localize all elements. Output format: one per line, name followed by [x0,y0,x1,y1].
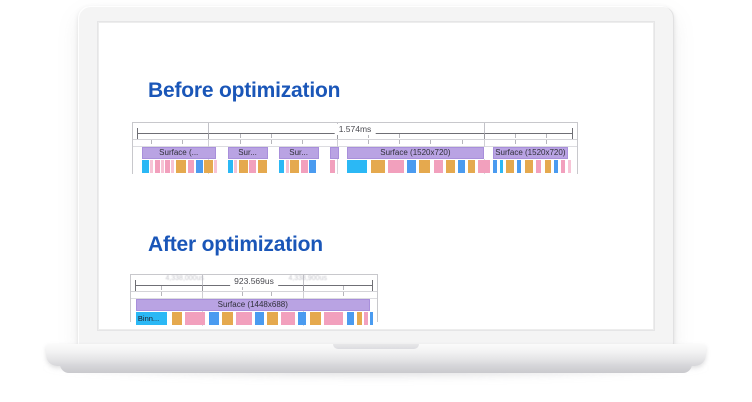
trace-slice[interactable] [517,160,521,173]
trace-slice[interactable] [286,160,289,173]
trace-before-track: Surface (...Sur...Sur...Surface (1520x72… [133,147,577,174]
trace-slice[interactable] [196,160,203,173]
trace-slice[interactable] [545,160,552,173]
trace-slice[interactable] [493,160,497,173]
trace-slice[interactable] [309,160,316,173]
ruler-tick [484,133,485,139]
after-optimization-title: After optimization [148,232,323,258]
ruler-tick [515,134,516,138]
trace-after-track: Surface (1448x688) Binn... [131,299,377,326]
trace-slice[interactable] [161,160,164,173]
surface-block[interactable]: Surface (1520x720) [347,147,484,159]
trace-slice[interactable] [347,160,367,173]
ruler-tick [271,134,272,138]
trace-slice[interactable] [536,160,542,173]
trace-slice[interactable] [239,160,248,173]
ruler-tick [399,134,400,138]
trace-slice[interactable] [419,160,431,173]
trace-slice[interactable] [228,160,233,173]
ruler-cap-right [372,280,373,291]
ruler-tick [546,134,547,138]
trace-slice[interactable] [506,160,514,173]
trace-slice[interactable] [214,160,217,173]
ruler-cap-left [135,280,136,291]
trace-slice[interactable] [407,160,416,173]
trace-slice[interactable] [267,312,278,325]
trace-slice[interactable] [176,160,187,173]
surface-block[interactable]: Surface (... [142,147,216,159]
trace-before[interactable]: 1.574ms Surface (...Sur...Sur...Surface … [132,122,578,174]
ruler-cap-right [572,128,573,139]
ruler-tick [240,134,241,138]
trace-slice[interactable] [188,160,195,173]
trace-slice[interactable] [357,312,361,325]
laptop-base [46,344,706,366]
trace-after-faint-timestamp-left: 4,338,000us [165,274,204,283]
trace-slice[interactable] [324,312,343,325]
trace-slice[interactable] [155,160,160,173]
trace-slice[interactable] [236,312,252,325]
screenshot-root: Before optimization 1.574ms [0,0,752,402]
surface-block[interactable]: Sur... [279,147,319,159]
trace-slice[interactable] [279,160,285,173]
surface-block[interactable]: Surface (1520x720) [493,147,568,159]
trace-slice[interactable] [388,160,404,173]
trace-slice[interactable] [204,160,213,173]
section-before-optimization: Before optimization [148,78,340,104]
trace-slice[interactable] [468,160,475,173]
trace-after-ruler[interactable]: 4,338,000us 4,338,900us 923.569us [131,275,377,292]
trace-slice[interactable] [434,160,444,173]
trace-slice[interactable] [370,312,373,325]
ruler-tick [208,133,209,139]
trace-slice[interactable] [347,312,354,325]
trace-after-subruler [131,292,377,299]
trace-slice[interactable] [458,160,465,173]
trace-slice[interactable] [446,160,454,173]
trace-after-surface-row: Surface (1448x688) [131,299,377,311]
trace-slice[interactable] [172,312,182,325]
trace-before-subruler [133,140,577,147]
trace-slice[interactable] [258,160,267,173]
trace-before-ruler[interactable]: 1.574ms [133,123,577,140]
surface-block[interactable]: Surface (1448x688) [136,299,370,311]
trace-slice[interactable] [222,312,233,325]
trace-after-duration-label: 923.569us [230,276,278,287]
section-after-optimization: After optimization [148,232,323,258]
trace-slice[interactable] [165,160,169,173]
trace-slice[interactable] [568,160,571,173]
trace-slice[interactable] [281,312,295,325]
trace-before-surface-row: Surface (...Sur...Sur...Surface (1520x72… [133,147,577,159]
trace-slice[interactable] [209,312,219,325]
trace-slice[interactable] [525,160,533,173]
before-optimization-title: Before optimization [148,78,340,104]
trace-slice[interactable] [142,160,149,173]
trace-slice[interactable] [371,160,385,173]
trace-after-slice-row: Binn... [131,311,377,326]
trace-slice[interactable] [301,160,308,173]
trace-slice[interactable] [255,312,263,325]
trace-slice[interactable] [310,312,321,325]
trace-slice-labeled[interactable]: Binn... [136,312,167,325]
trace-before-duration-label: 1.574ms [335,124,376,135]
trace-slice[interactable] [554,160,558,173]
trace-after-faint-timestamp-right: 4,338,900us [288,274,327,283]
trace-slice[interactable] [478,160,490,173]
surface-block[interactable]: Sur... [228,147,268,159]
trace-after[interactable]: 4,338,000us 4,338,900us 923.569us Surfac… [130,274,378,322]
trace-slice[interactable] [330,160,335,173]
trace-slice[interactable] [290,160,299,173]
trace-slice[interactable] [298,312,306,325]
trace-slice[interactable] [561,160,565,173]
trace-slice[interactable] [234,160,237,173]
trace-slice[interactable] [185,312,205,325]
trace-slice[interactable] [364,312,368,325]
trace-before-slice-row [133,159,577,174]
ruler-cap-left [137,128,138,139]
trace-slice[interactable] [171,160,174,173]
trace-slice[interactable] [150,160,154,173]
surface-block[interactable] [330,147,340,159]
trace-slice[interactable] [249,160,257,173]
trace-slice[interactable] [500,160,504,173]
laptop-foot [60,364,692,373]
